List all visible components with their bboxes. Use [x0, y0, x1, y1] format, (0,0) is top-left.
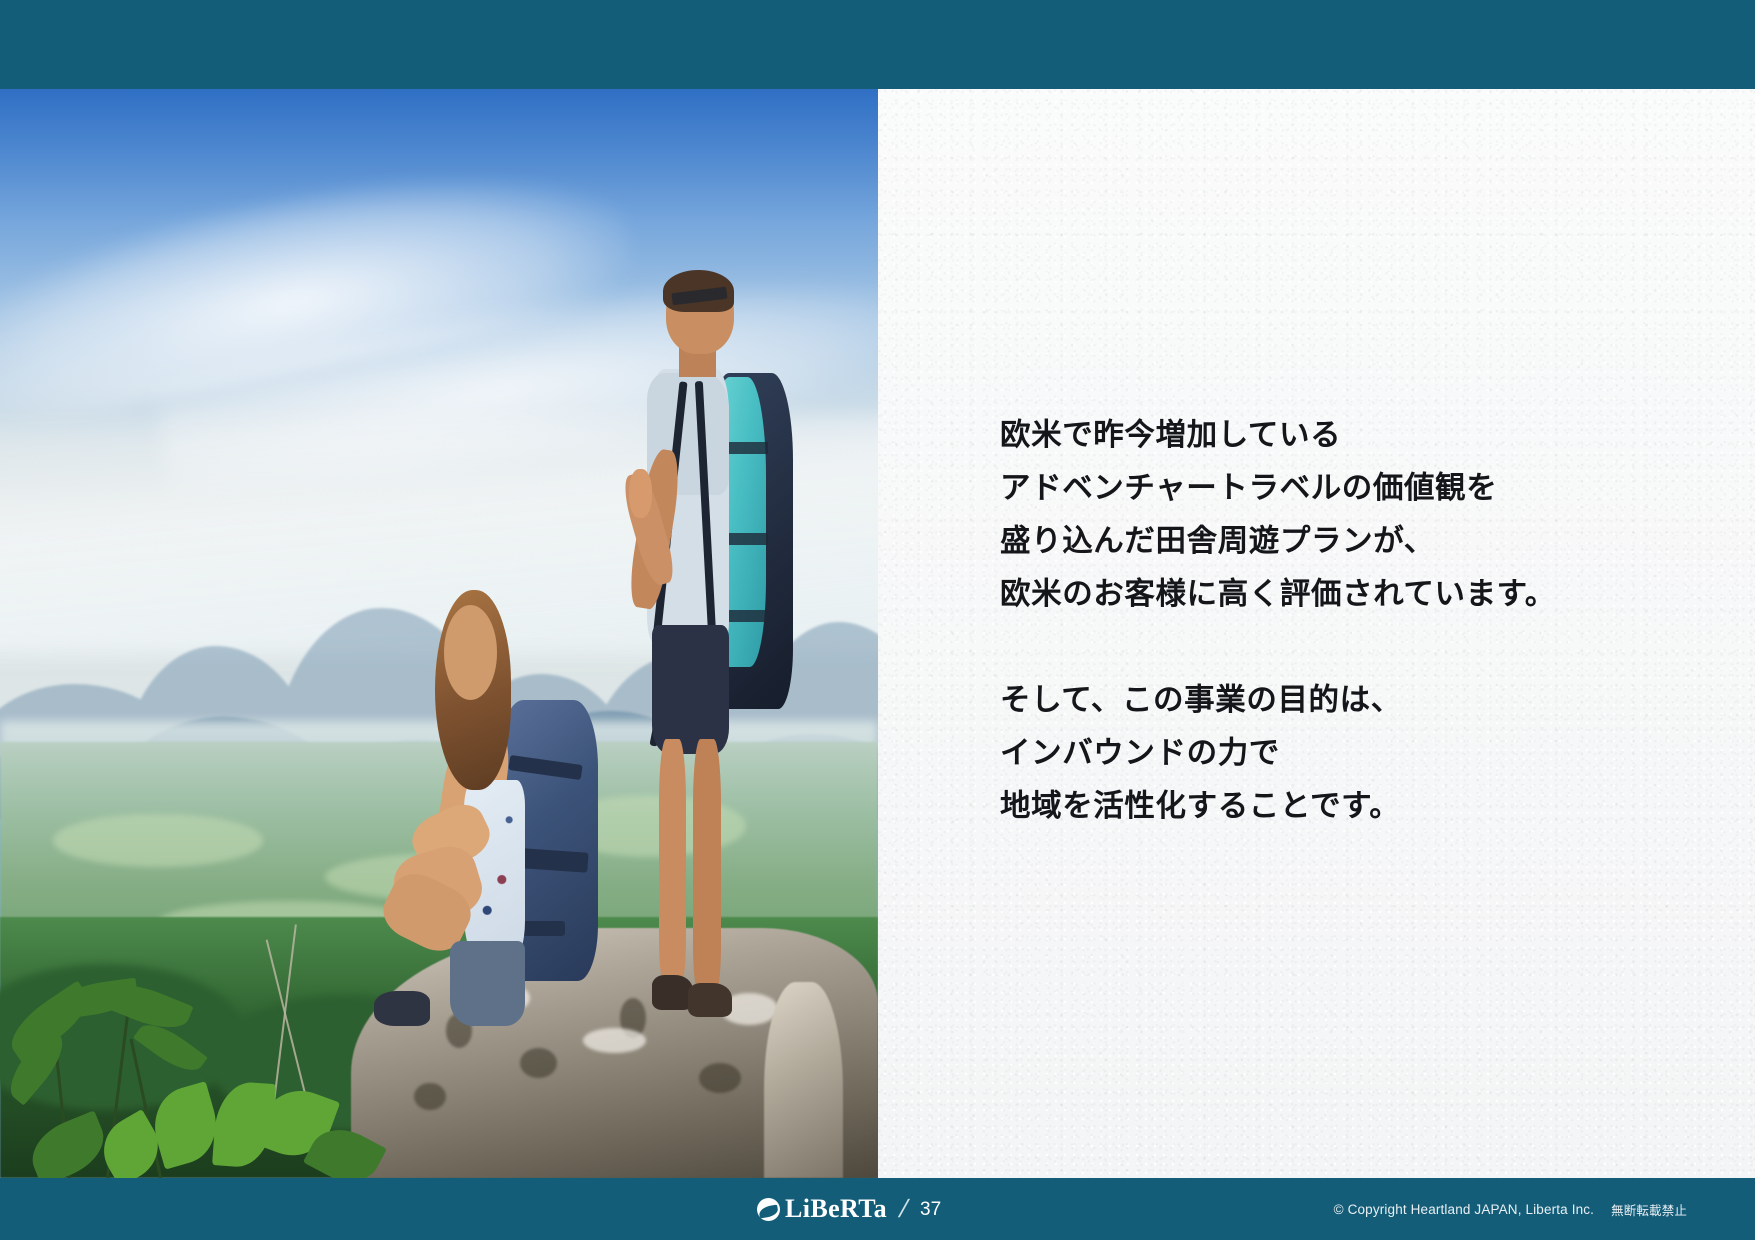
liberta-leaf-mark-icon — [757, 1198, 780, 1221]
man-shorts — [652, 625, 730, 755]
woman-sandal — [374, 991, 430, 1026]
copyright-text: © Copyright Heartland JAPAN, Liberta Inc… — [1334, 1202, 1594, 1217]
top-brand-bar — [0, 0, 1755, 89]
body-line-7: 地域を活性化することです。 — [1000, 780, 1700, 833]
man-sandal-left — [652, 975, 693, 1009]
slash-separator: / — [896, 1197, 910, 1222]
body-copy: 欧米で昨今増加している アドベンチャートラベルの価値観を 盛り込んだ田舎周遊プラ… — [1000, 409, 1700, 833]
page-number: 37 — [920, 1200, 941, 1219]
body-line-4: 欧米のお客様に高く評価されています。 — [1000, 568, 1700, 621]
body-line-2: アドベンチャートラベルの価値観を — [1000, 462, 1700, 515]
hero-photo — [0, 89, 878, 1178]
woman-shorts — [450, 941, 526, 1026]
body-line-5: そして、この事業の目的は、 — [1000, 674, 1700, 727]
slide-root: 欧米で昨今増加している アドベンチャートラベルの価値観を 盛り込んだ田舎周遊プラ… — [0, 0, 1755, 1240]
woman-head — [444, 605, 497, 700]
body-line-6: インバウンドの力で — [1000, 727, 1700, 780]
logo-wordmark: LiBeRTa — [785, 1196, 887, 1222]
copyright-group: © Copyright Heartland JAPAN, Liberta Inc… — [1334, 1178, 1687, 1240]
paragraph-spacer — [1000, 621, 1700, 674]
footer-left-group: LiBeRTa / 37 — [757, 1178, 941, 1240]
rights-note: 無断転載禁止 — [1611, 1200, 1687, 1219]
liberta-logo[interactable]: LiBeRTa — [757, 1196, 887, 1222]
text-panel: 欧米で昨今増加している アドベンチャートラベルの価値観を 盛り込んだ田舎周遊プラ… — [878, 89, 1755, 1178]
footer-bar: LiBeRTa / 37 © Copyright Heartland JAPAN… — [0, 1178, 1755, 1240]
body-line-1: 欧米で昨今増加している — [1000, 409, 1700, 462]
man-sandal-right — [688, 983, 731, 1017]
body-line-3: 盛り込んだ田舎周遊プランが、 — [1000, 515, 1700, 568]
hiker-woman-sitting — [351, 590, 632, 1091]
